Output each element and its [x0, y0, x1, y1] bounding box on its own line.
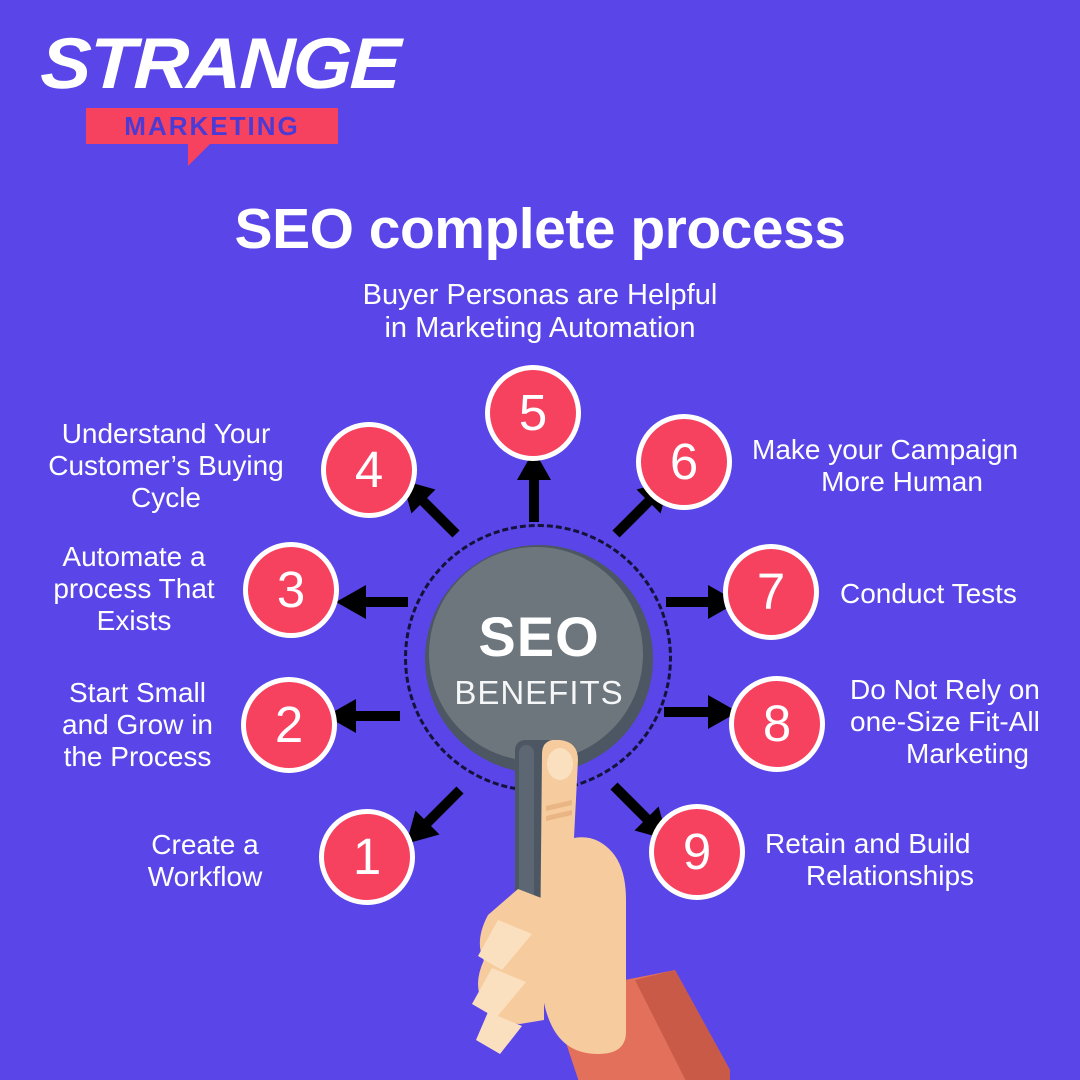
step-label-4-line-2: Customer’s Buying	[26, 450, 306, 482]
step-badge-7[interactable]: 7	[723, 544, 819, 640]
step-label-2-line-2: and Grow in	[40, 709, 235, 741]
step-label-9: Retain and Build Relationships	[765, 828, 1015, 892]
step-badge-wrap-9: 9	[649, 804, 745, 900]
step-label-1: Create a Workflow	[100, 829, 310, 893]
brand-banner: MARKETING	[86, 108, 338, 144]
step-label-8-line-2: one-Size Fit-All	[850, 706, 1080, 738]
step-badge-5[interactable]: 5	[485, 365, 581, 461]
step-badge-3[interactable]: 3	[243, 542, 339, 638]
page-subtitle: Buyer Personas are Helpful in Marketing …	[0, 279, 1080, 345]
step-badge-wrap-1: 1	[319, 809, 415, 905]
page-subtitle-line-2: in Marketing Automation	[0, 312, 1080, 345]
step-label-8: Do Not Rely on one-Size Fit-All Marketin…	[850, 674, 1080, 770]
step-label-6-line-2: More Human	[752, 466, 1052, 498]
page-subtitle-line-1: Buyer Personas are Helpful	[363, 279, 718, 311]
step-label-8-line-1: Do Not Rely on	[850, 674, 1080, 706]
brand-banner-tail-icon	[188, 144, 210, 166]
arrow-to-step-2	[326, 699, 400, 733]
step-label-7-line-1: Conduct Tests	[840, 578, 1080, 610]
step-label-6: Make your Campaign More Human	[752, 434, 1052, 498]
step-label-2-line-1: Start Small	[40, 677, 235, 709]
step-badge-wrap-7: 7	[723, 544, 819, 640]
brand-wordmark: STRANGE	[39, 28, 400, 100]
hand-illustration	[430, 740, 730, 1080]
brand-logo: STRANGE MARKETING	[42, 28, 342, 140]
step-label-3-line-3: Exists	[34, 605, 234, 637]
brand-banner-label: MARKETING	[86, 108, 338, 144]
step-badge-wrap-4: 4	[321, 422, 417, 518]
step-badge-4[interactable]: 4	[321, 422, 417, 518]
center-subtitle: BENEFITS	[425, 675, 653, 710]
step-badge-wrap-5: 5	[485, 365, 581, 461]
step-label-9-line-1: Retain and Build	[765, 828, 1015, 860]
step-badge-9[interactable]: 9	[649, 804, 745, 900]
thumbnail-shape	[547, 748, 573, 780]
arrow-to-step-8	[664, 695, 738, 729]
step-label-3-line-2: process That	[34, 573, 234, 605]
arrow-to-step-3	[336, 585, 408, 619]
infographic-poster: STRANGE MARKETING SEO complete process B…	[0, 0, 1080, 1080]
step-label-8-line-3: Marketing	[850, 738, 1080, 770]
page-title: SEO complete process	[0, 196, 1080, 262]
step-badge-6[interactable]: 6	[636, 414, 732, 510]
step-label-3: Automate a process That Exists	[34, 541, 234, 637]
center-title: SEO	[425, 608, 653, 666]
step-label-4-line-1: Understand Your	[26, 418, 306, 450]
step-badge-wrap-6: 6	[636, 414, 732, 510]
step-badge-wrap-3: 3	[243, 542, 339, 638]
step-badge-wrap-2: 2	[241, 677, 337, 773]
step-label-4: Understand Your Customer’s Buying Cycle	[26, 418, 306, 514]
step-label-2-line-3: the Process	[40, 741, 235, 773]
palm-shape	[540, 740, 626, 1054]
step-label-6-line-1: Make your Campaign	[752, 434, 1052, 466]
step-label-7: Conduct Tests	[840, 578, 1080, 610]
step-badge-8[interactable]: 8	[729, 676, 825, 772]
step-badge-2[interactable]: 2	[241, 677, 337, 773]
step-label-2: Start Small and Grow in the Process	[40, 677, 235, 773]
step-label-9-line-2: Relationships	[765, 860, 1015, 892]
step-badge-1[interactable]: 1	[319, 809, 415, 905]
step-label-1-line-2: Workflow	[100, 861, 310, 893]
step-badge-wrap-8: 8	[729, 676, 825, 772]
step-label-4-line-3: Cycle	[26, 482, 306, 514]
step-label-3-line-1: Automate a	[34, 541, 234, 573]
step-label-1-line-1: Create a	[100, 829, 310, 861]
